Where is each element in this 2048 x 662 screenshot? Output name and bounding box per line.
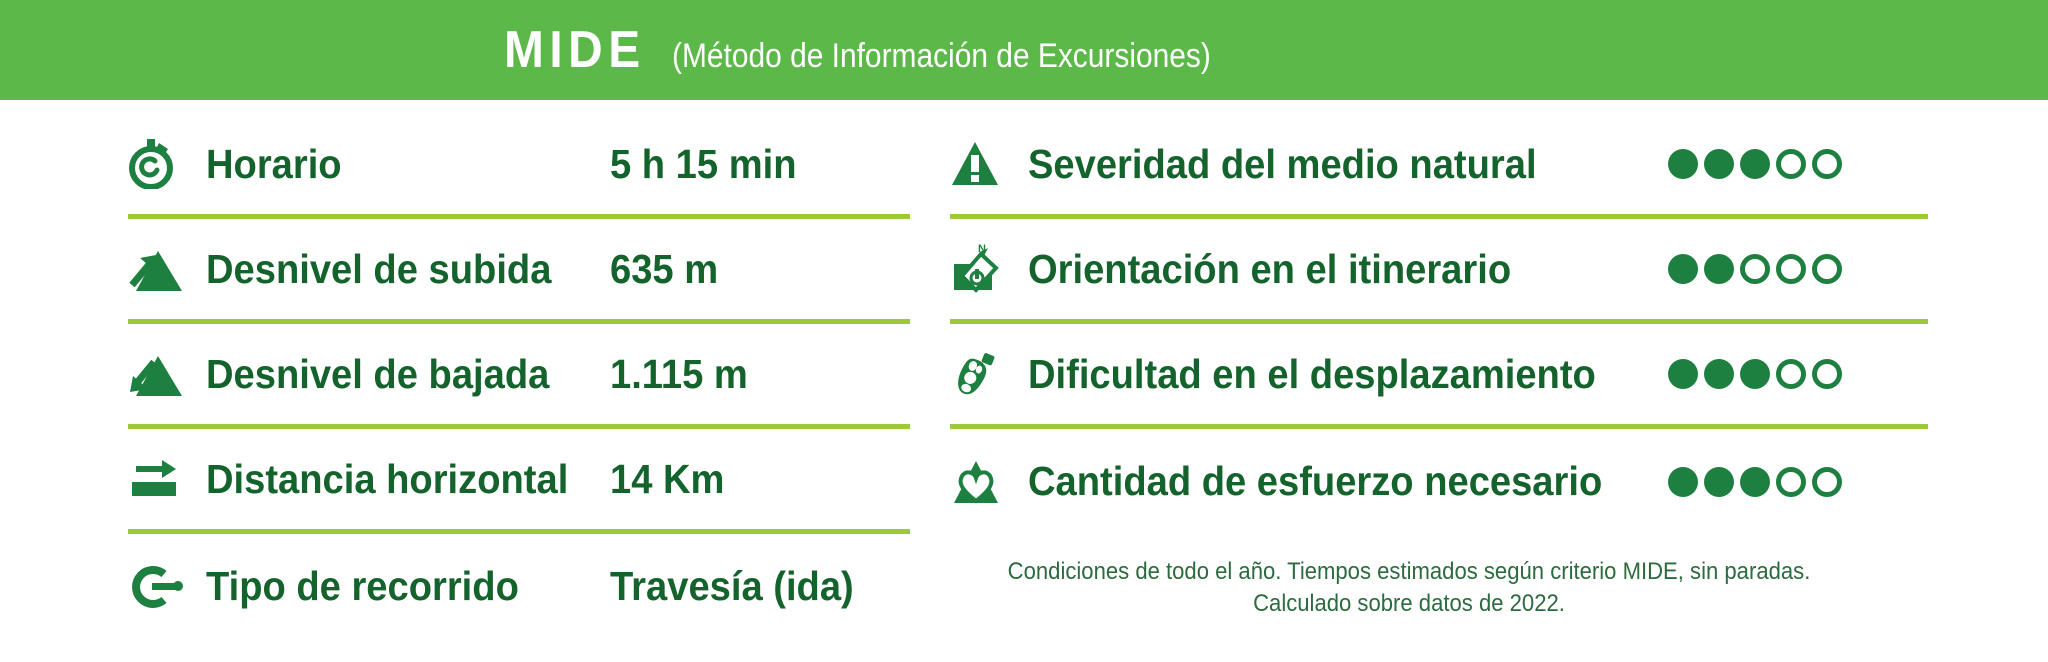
compass-map-icon: N [950, 242, 1028, 296]
mountain-ascent-icon [128, 245, 206, 293]
row-label: Orientación en el itinerario [1028, 249, 1623, 290]
rating-dot-empty [1776, 359, 1806, 389]
rating-dot-empty [1812, 359, 1842, 389]
rating-dot-empty [1812, 254, 1842, 284]
rating-dot-empty [1776, 254, 1806, 284]
rating-dot-filled [1740, 359, 1770, 389]
row-tipo-recorrido: Tipo de recorrido Travesía (ida) [128, 534, 910, 639]
row-horario: Horario 5 h 15 min [128, 114, 910, 219]
stopwatch-icon [128, 139, 206, 189]
row-desnivel-bajada: Desnivel de bajada 1.115 m [128, 324, 910, 429]
rating-dot-filled [1704, 254, 1734, 284]
route-type-icon [128, 563, 206, 611]
footer-line-2: Calculado sobre datos de 2022. [987, 588, 1832, 620]
rating-dot-empty [1812, 149, 1842, 179]
rating-dots [1668, 359, 1898, 389]
mountain-descent-icon [128, 350, 206, 398]
row-value: Travesía (ida) [610, 566, 889, 607]
horizontal-distance-icon [128, 458, 206, 500]
row-value: 5 h 15 min [610, 144, 889, 185]
row-label: Desnivel de bajada [206, 354, 582, 395]
row-dificultad: Dificultad en el desplazamiento [950, 324, 1928, 429]
rating-dot-empty [1812, 467, 1842, 497]
footer-line-1: Condiciones de todo el año. Tiempos esti… [987, 556, 1832, 588]
warning-triangle-icon [950, 140, 1028, 188]
heart-mountain-icon [950, 457, 1028, 507]
rating-dot-filled [1704, 359, 1734, 389]
row-label: Severidad del medio natural [1028, 144, 1623, 185]
row-value: 1.115 m [610, 354, 889, 395]
rating-dots [1668, 149, 1898, 179]
row-label: Tipo de recorrido [206, 566, 582, 607]
rating-dot-filled [1740, 149, 1770, 179]
rating-dot-empty [1776, 149, 1806, 179]
row-label: Cantidad de esfuerzo necesario [1028, 461, 1623, 502]
boot-sole-icon [950, 346, 1028, 402]
row-label: Dificultad en el desplazamiento [1028, 354, 1623, 395]
row-desnivel-subida: Desnivel de subida 635 m [128, 219, 910, 324]
header-title-group: MIDE (Método de Información de Excursion… [504, 24, 1284, 76]
row-label: Horario [206, 144, 582, 185]
mide-expansion: (Método de Información de Excursiones) [672, 39, 1211, 73]
rating-dot-empty [1776, 467, 1806, 497]
mide-left-column: Horario 5 h 15 min Desnivel de subida 63… [0, 114, 920, 639]
rating-dot-filled [1704, 467, 1734, 497]
row-label: Desnivel de subida [206, 249, 582, 290]
row-label: Distancia horizontal [206, 459, 582, 500]
mide-body: Horario 5 h 15 min Desnivel de subida 63… [0, 100, 2048, 639]
mide-right-column: Severidad del medio natural N O [920, 114, 2048, 639]
rating-dot-filled [1668, 149, 1698, 179]
mide-panel: MIDE (Método de Información de Excursion… [0, 0, 2048, 662]
rating-dot-filled [1668, 467, 1698, 497]
rating-dot-empty [1740, 254, 1770, 284]
rating-dot-filled [1668, 254, 1698, 284]
row-value: 635 m [610, 249, 889, 290]
rating-dot-filled [1668, 359, 1698, 389]
rating-dot-filled [1704, 149, 1734, 179]
rating-dots [1668, 254, 1898, 284]
footer-note: Condiciones de todo el año. Tiempos esti… [950, 534, 1928, 621]
row-distancia-horizontal: Distancia horizontal 14 Km [128, 429, 910, 534]
rating-dots [1668, 467, 1898, 497]
row-orientacion: N Orientación en el itinerario [950, 219, 1928, 324]
rating-dot-filled [1740, 467, 1770, 497]
row-esfuerzo: Cantidad de esfuerzo necesario [950, 429, 1928, 534]
row-severidad: Severidad del medio natural [950, 114, 1928, 219]
mide-acronym: MIDE [504, 24, 646, 76]
row-value: 14 Km [610, 459, 889, 500]
mide-header: MIDE (Método de Información de Excursion… [0, 0, 2048, 100]
